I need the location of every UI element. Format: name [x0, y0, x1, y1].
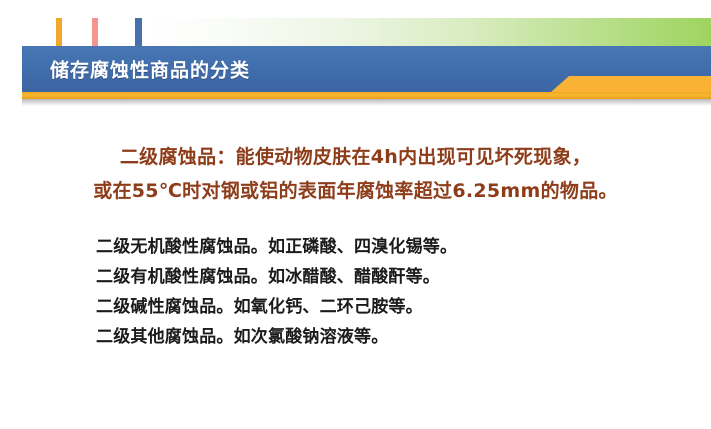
accent-bar-pink: [92, 18, 98, 46]
list-item: 二级无机酸性腐蚀品。如正磷酸、四溴化锡等。: [0, 232, 711, 262]
page-title: 储存腐蚀性商品的分类: [50, 56, 250, 83]
divider-shadow: [22, 99, 711, 106]
definition-line-1: 二级腐蚀品：能使动物皮肤在4h内出现可见坏死现象，: [0, 140, 711, 174]
definition-line-2: 或在55℃时对钢或铝的表面年腐蚀率超过6.25mm的物品。: [0, 174, 711, 208]
category-list: 二级无机酸性腐蚀品。如正磷酸、四溴化锡等。 二级有机酸性腐蚀品。如冰醋酸、醋酸酐…: [0, 232, 711, 352]
title-wedge-accent: [551, 76, 711, 92]
list-item: 二级有机酸性腐蚀品。如冰醋酸、醋酸酐等。: [0, 262, 711, 292]
accent-bar-blue: [135, 18, 142, 46]
slide-body: 二级腐蚀品：能使动物皮肤在4h内出现可见坏死现象， 或在55℃时对钢或铝的表面年…: [0, 140, 711, 352]
top-decoration-strip: [22, 18, 711, 46]
accent-bar-orange: [56, 18, 62, 46]
title-bar: 储存腐蚀性商品的分类: [22, 46, 711, 92]
green-gradient-band: [140, 18, 711, 46]
slide-canvas: 储存腐蚀性商品的分类 二级腐蚀品：能使动物皮肤在4h内出现可见坏死现象， 或在5…: [0, 0, 711, 429]
list-item: 二级其他腐蚀品。如次氯酸钠溶液等。: [0, 322, 711, 352]
definition-block: 二级腐蚀品：能使动物皮肤在4h内出现可见坏死现象， 或在55℃时对钢或铝的表面年…: [0, 140, 711, 208]
gold-divider-rule: [22, 92, 711, 99]
list-item: 二级碱性腐蚀品。如氧化钙、二环己胺等。: [0, 292, 711, 322]
